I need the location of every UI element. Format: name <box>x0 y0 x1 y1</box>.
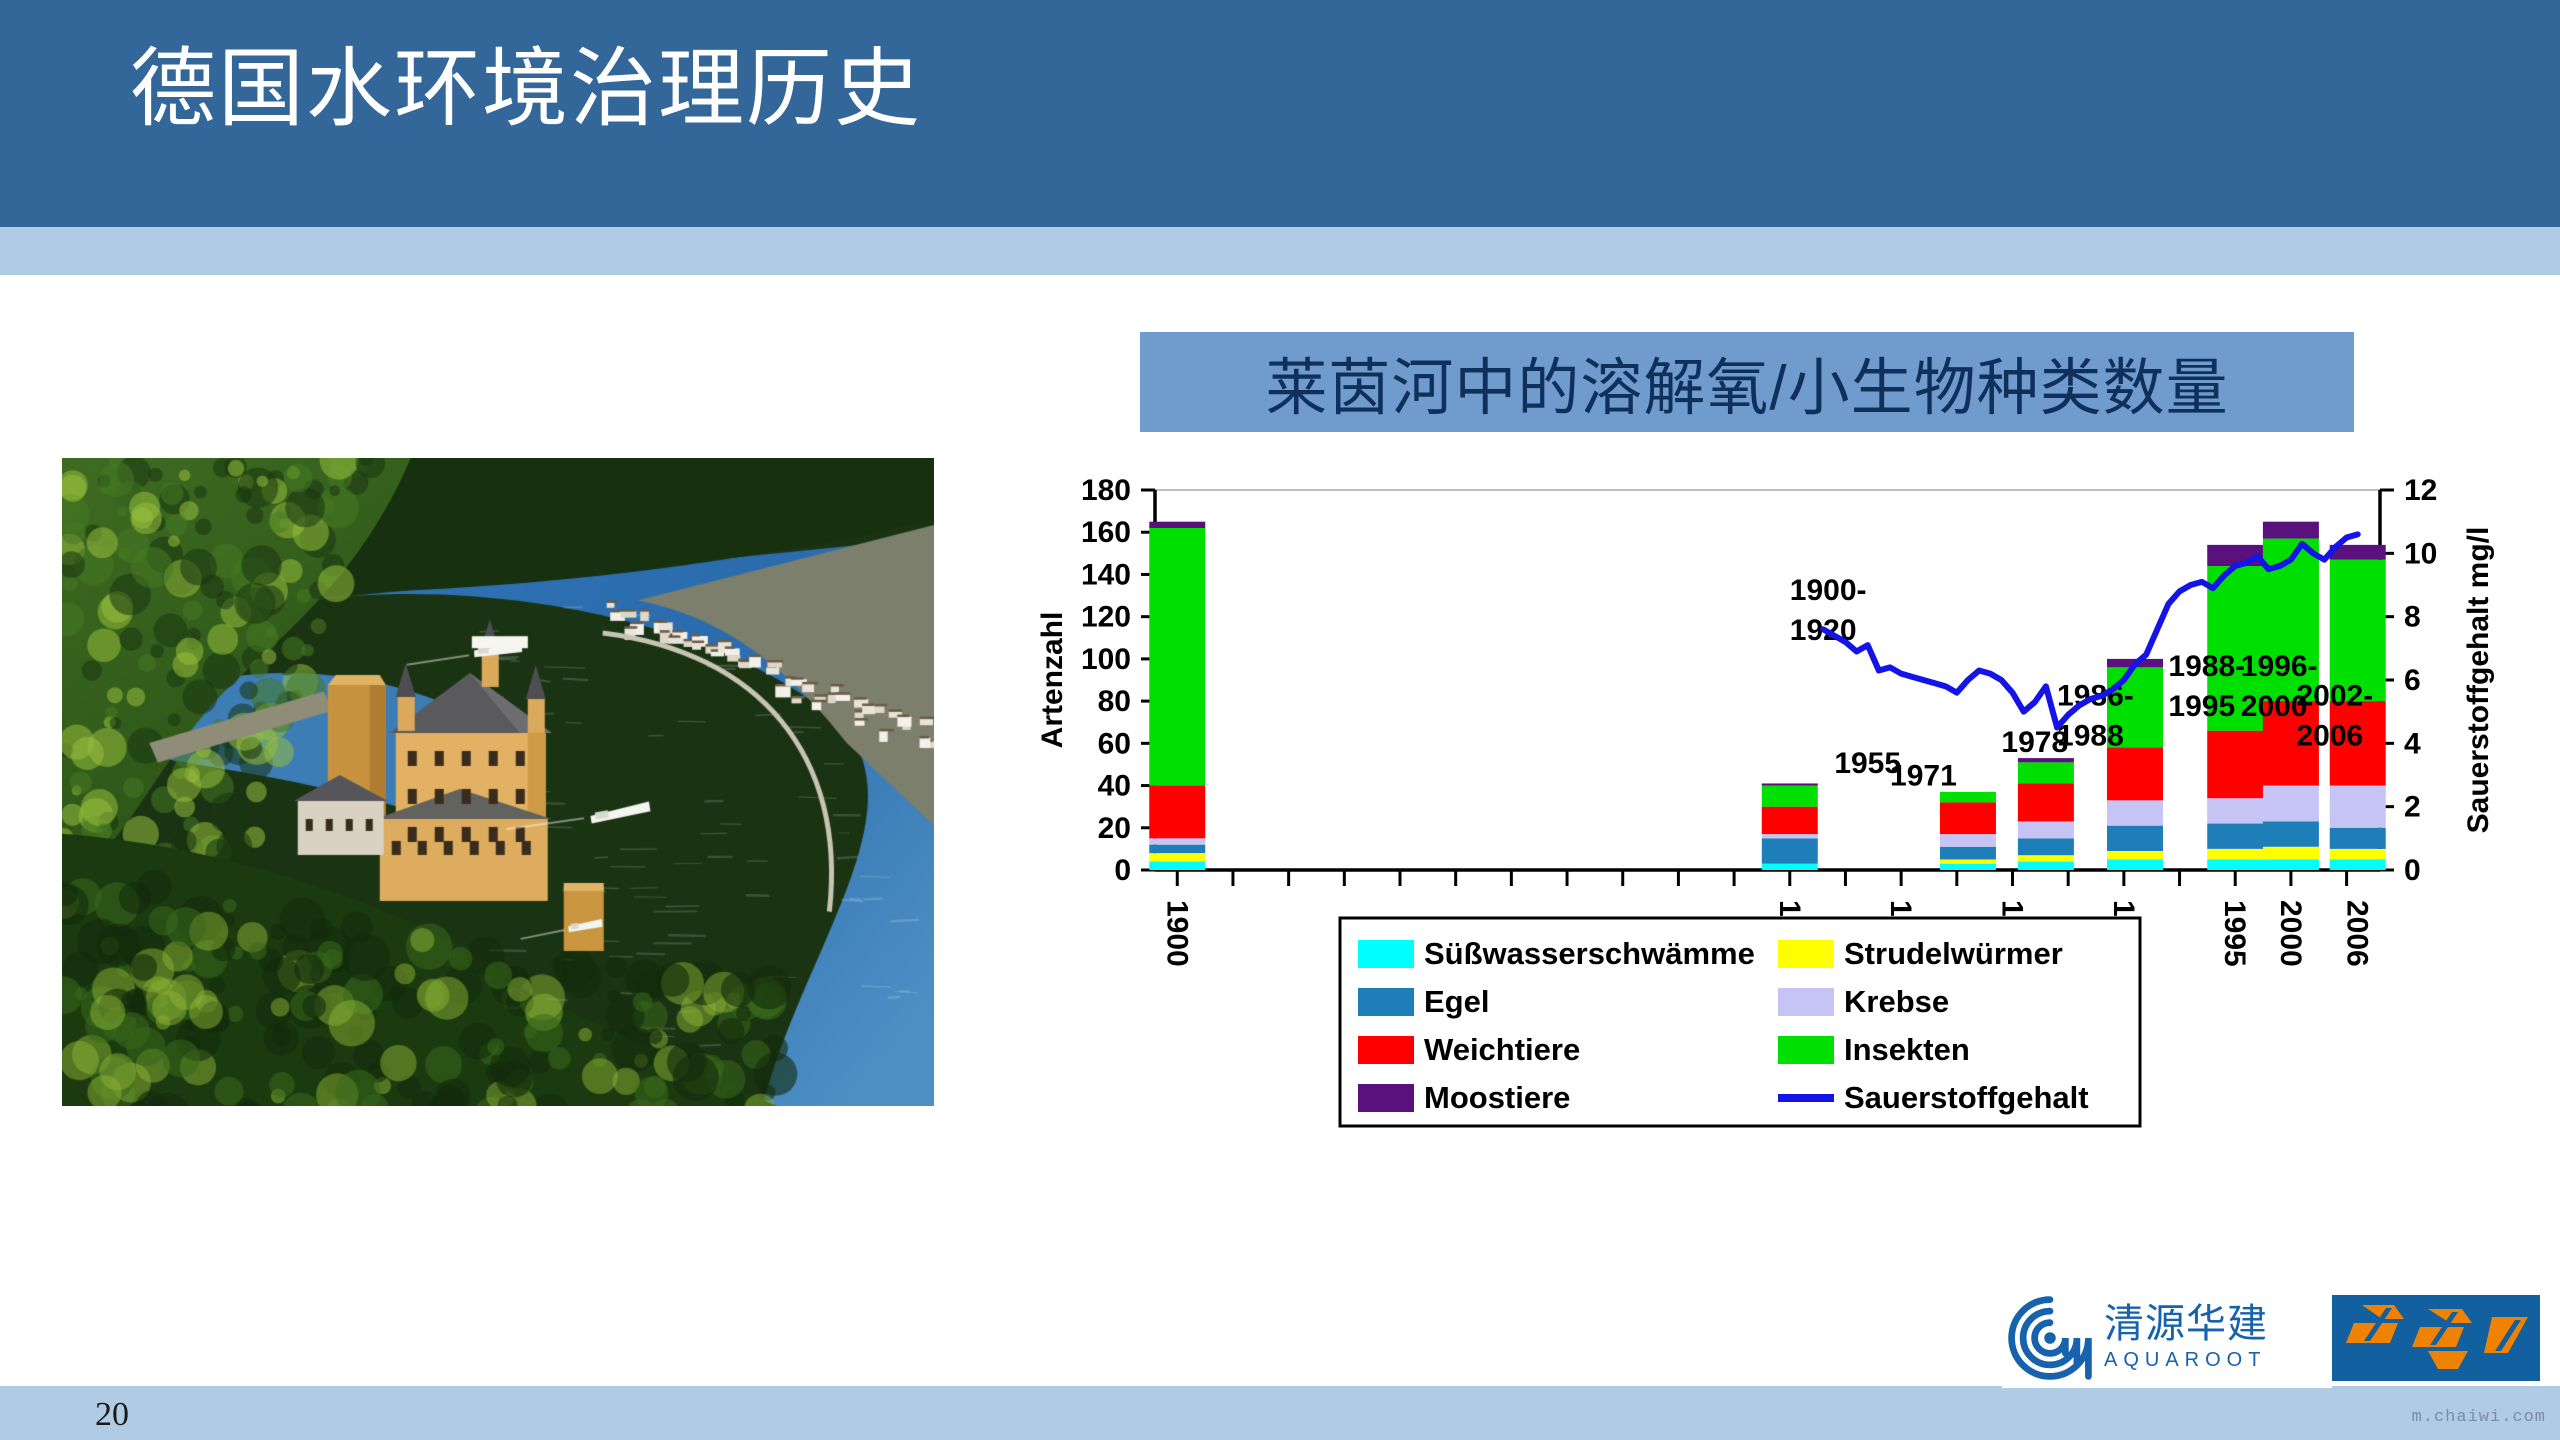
bar-segment-0 <box>1149 845 1205 853</box>
bar-segment-1 <box>1762 864 1818 870</box>
bar-segment-2 <box>1940 864 1996 870</box>
x-tick-label: 1900 <box>1160 900 1193 967</box>
bar-segment-3 <box>2018 855 2074 861</box>
bar-segment-0 <box>1149 862 1205 870</box>
bar-segment-6 <box>2263 847 2319 860</box>
legend-swatch <box>1778 988 1834 1016</box>
bar-segment-3 <box>2018 783 2074 821</box>
y-tick-label-left: 60 <box>1098 727 1131 760</box>
bar-segment-4 <box>2107 748 2163 801</box>
bar-segment-0 <box>1149 522 1205 528</box>
bar-segment-0 <box>1149 853 1205 861</box>
y-tick-label-right: 12 <box>2404 474 2437 507</box>
bar-segment-2 <box>1940 792 1996 803</box>
y-tick-label-left: 20 <box>1098 812 1131 845</box>
y-tick-label-right: 2 <box>2404 791 2421 824</box>
bar-segment-6 <box>2263 786 2319 822</box>
x-tick-label: 2000 <box>2274 900 2307 967</box>
bgu-logo-mark <box>2332 1295 2540 1381</box>
bar-segment-4 <box>2107 800 2163 825</box>
bar-segment-2 <box>1940 834 1996 847</box>
bar-segment-5 <box>2207 859 2263 870</box>
y-tick-label-left: 40 <box>1098 770 1131 803</box>
legend-swatch <box>1778 1036 1834 1064</box>
legend-label: Weichtiere <box>1424 1032 1580 1067</box>
y-tick-label-left: 80 <box>1098 685 1131 718</box>
legend-label: Krebse <box>1844 984 1949 1019</box>
y-tick-label-left: 0 <box>1114 854 1131 887</box>
bar-segment-7 <box>2330 859 2386 870</box>
bar-segment-7 <box>2330 786 2386 828</box>
bar-segment-5 <box>2207 849 2263 860</box>
bar-segment-4 <box>2107 851 2163 859</box>
footer-band <box>0 1386 2560 1440</box>
bar-segment-1 <box>1762 838 1818 863</box>
bar-annotation-4: 1988 <box>2057 719 2124 752</box>
bar-segment-5 <box>2207 798 2263 823</box>
page-title: 德国水环境治理历史 <box>130 36 922 144</box>
photo-canvas <box>62 458 934 1106</box>
aquaroot-logo: 清源华建 AQUAROOT <box>2002 1288 2332 1388</box>
legend-swatch <box>1358 988 1414 1016</box>
logo-row: 清源华建 AQUAROOT <box>2002 1288 2542 1388</box>
aquaroot-cn-text: 清源华建 <box>2104 1304 2268 1344</box>
legend-label: Sauerstoffgehalt <box>1844 1080 2089 1115</box>
bar-segment-3 <box>2018 821 2074 838</box>
bar-segment-5 <box>2207 824 2263 849</box>
bar-segment-5 <box>2207 731 2263 799</box>
bar-segment-3 <box>2018 762 2074 783</box>
y-tick-label-left: 120 <box>1081 601 1131 634</box>
y-tick-label-right: 4 <box>2404 727 2421 760</box>
bar-segment-2 <box>1940 847 1996 860</box>
aquaroot-wordmark: 清源华建 AQUAROOT <box>2104 1304 2268 1372</box>
chart-title-banner: 莱茵河中的溶解氧/小生物种类数量 <box>1140 332 2354 432</box>
legend-label: Süßwasserschwämme <box>1424 936 1755 971</box>
bar-segment-4 <box>2107 859 2163 870</box>
x-tick-label: 1995 <box>2218 900 2251 967</box>
bar-segment-4 <box>2107 826 2163 851</box>
bar-segment-1 <box>1762 807 1818 834</box>
legend-swatch <box>1358 1036 1414 1064</box>
aquaroot-spiral-icon <box>2002 1290 2098 1386</box>
bar-segment-1 <box>1762 834 1818 838</box>
bar-segment-6 <box>2263 821 2319 846</box>
watermark-text: m.chaiwi.com <box>2412 1408 2546 1427</box>
y-tick-label-right: 6 <box>2404 664 2421 697</box>
y-axis-label-left: Artenzahl <box>1036 612 1069 749</box>
bar-segment-6 <box>2263 522 2319 539</box>
bar-segment-6 <box>2263 859 2319 870</box>
bar-annotation-6: 1996- <box>2241 650 2318 683</box>
legend-swatch <box>1358 1084 1414 1112</box>
bar-annotation-7: 2002- <box>2296 679 2373 712</box>
y-tick-label-left: 140 <box>1081 558 1131 591</box>
header-accent-band <box>0 227 2560 275</box>
bar-annotation-2: 1971 <box>1890 760 1957 793</box>
bar-segment-1 <box>1762 786 1818 807</box>
bgu-logo <box>2332 1295 2540 1381</box>
rhine-species-oxygen-chart: 020406080100120140160180024681012Artenza… <box>1020 470 2540 1210</box>
bar-segment-0 <box>1149 786 1205 839</box>
chart-svg: 020406080100120140160180024681012Artenza… <box>1020 470 2540 1210</box>
bar-segment-0 <box>1149 838 1205 844</box>
y-tick-label-left: 180 <box>1081 474 1131 507</box>
bar-segment-7 <box>2330 849 2386 860</box>
bar-segment-2 <box>1940 802 1996 834</box>
chart-title-text: 莱茵河中的溶解氧/小生物种类数量 <box>1265 337 2228 427</box>
bar-segment-3 <box>2018 862 2074 870</box>
y-tick-label-right: 0 <box>2404 854 2421 887</box>
y-tick-label-left: 160 <box>1081 516 1131 549</box>
bar-annotation-5: 1988- <box>2168 650 2245 683</box>
rhine-valley-castle-photo <box>62 458 934 1106</box>
legend-swatch <box>1358 940 1414 968</box>
bar-segment-2 <box>1940 859 1996 863</box>
legend-label: Strudelwürmer <box>1844 936 2063 971</box>
y-tick-label-right: 10 <box>2404 537 2437 570</box>
legend-swatch <box>1778 940 1834 968</box>
bar-segment-3 <box>2018 838 2074 855</box>
bar-annotation-5: 1995 <box>2168 690 2235 723</box>
legend-label: Moostiere <box>1424 1080 1570 1115</box>
legend-label: Insekten <box>1844 1032 1970 1067</box>
aquaroot-en-text: AQUAROOT <box>2104 1349 2268 1372</box>
y-tick-label-right: 8 <box>2404 601 2421 634</box>
y-tick-label-left: 100 <box>1081 643 1131 676</box>
page-number: 20 <box>95 1396 129 1434</box>
legend-label: Egel <box>1424 984 1489 1019</box>
bar-segment-0 <box>1149 528 1205 786</box>
bar-annotation-0: 1900- <box>1790 574 1867 607</box>
bar-segment-7 <box>2330 828 2386 849</box>
bar-segment-1 <box>1762 783 1818 785</box>
x-tick-label: 2006 <box>2341 900 2374 967</box>
bar-annotation-7: 2006 <box>2296 719 2363 752</box>
y-axis-label-right: Sauerstoffgehalt mg/l <box>2462 527 2495 834</box>
